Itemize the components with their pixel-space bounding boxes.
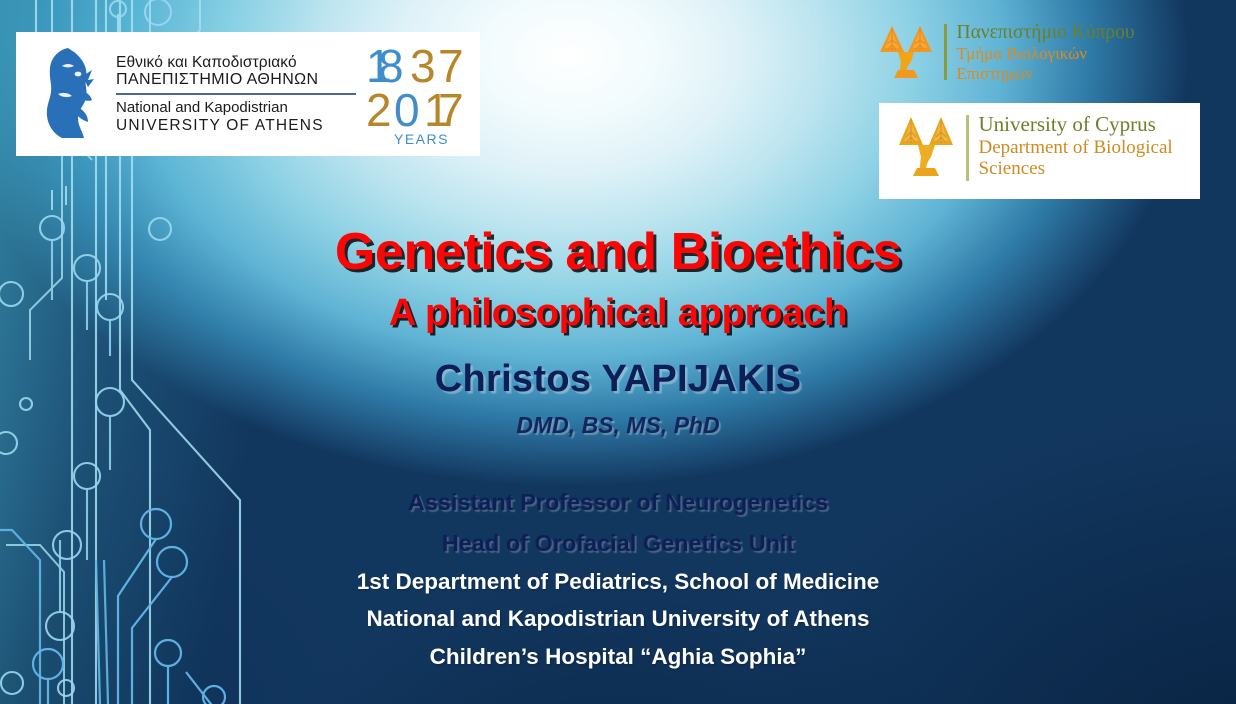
presentation-slide: Εθνικό και Καποδιστριακό ΠΑΝΕΠΙΣΤΗΜΙΟ ΑΘ… [0,0,1236,704]
svg-text:7: 7 [438,84,464,136]
cyprus-greek-line1: Πανεπιστήμιο Κύπρου [957,22,1135,44]
nkua-logo: Εθνικό και Καποδιστριακό ΠΑΝΕΠΙΣΤΗΜΙΟ ΑΘ… [16,32,480,156]
affiliation-line-3: 1st Department of Pediatrics, School of … [0,569,1236,595]
cyprus-logo-divider [966,115,969,181]
nkua-divider-rule [116,93,356,94]
svg-text:0: 0 [394,84,420,136]
anniversary-1837-2017-icon: 1 8 3 7 2 0 1 7 YEARS [362,38,474,150]
nkua-logo-text: Εθνικό και Καποδιστριακό ΠΑΝΕΠΙΣΤΗΜΙΟ ΑΘ… [100,54,356,134]
cyprus-twin-tree-emblem-icon [876,22,936,80]
affiliation-line-4: National and Kapodistrian University of … [0,606,1236,632]
university-of-cyprus-greek-logo: Πανεπιστήμιο Κύπρου Τμήμα Βιολογικών Επι… [876,22,1216,102]
university-of-cyprus-english-logo: University of Cyprus Department of Biolo… [879,103,1200,199]
svg-text:YEARS: YEARS [394,131,449,147]
nkua-greek-line1: Εθνικό και Καποδιστριακό [116,54,356,71]
author-name: Christos YAPIJAKIS [0,358,1236,401]
cyprus-greek-text: Πανεπιστήμιο Κύπρου Τμήμα Βιολογικών Επι… [957,22,1135,83]
affiliation-line-2: Head of Orofacial Genetics Unit [0,530,1236,557]
affiliation-line-5: Children’s Hospital “Aghia Sophia” [0,644,1236,670]
cyprus-english-text: University of Cyprus Department of Biolo… [979,113,1173,180]
cyprus-english-line1: University of Cyprus [979,113,1173,137]
cyprus-logo-divider [944,24,947,80]
svg-text:2: 2 [366,84,392,136]
affiliation-line-1: Assistant Professor of Neurogenetics [0,489,1236,516]
cyprus-english-line3: Sciences [979,158,1173,179]
author-degrees: DMD, BS, MS, PhD [0,412,1236,439]
nkua-english-line1: National and Kapodistrian [116,100,356,117]
nkua-english-line2: UNIVERSITY OF ATHENS [116,117,356,134]
nkua-greek-line2: ΠΑΝΕΠΙΣΤΗΜΙΟ ΑΘΗΝΩΝ [116,71,356,89]
athena-head-emblem-icon [38,46,100,142]
cyprus-greek-line2: Τμήμα Βιολογικών [957,44,1135,63]
cyprus-english-line2: Department of Biological [979,137,1173,158]
slide-title-main: Genetics and Bioethics [0,222,1236,282]
slide-title-subtitle: A philosophical approach [0,292,1236,335]
cyprus-twin-tree-emblem-icon [895,113,957,179]
cyprus-greek-line3: Επιστημών [957,64,1135,83]
